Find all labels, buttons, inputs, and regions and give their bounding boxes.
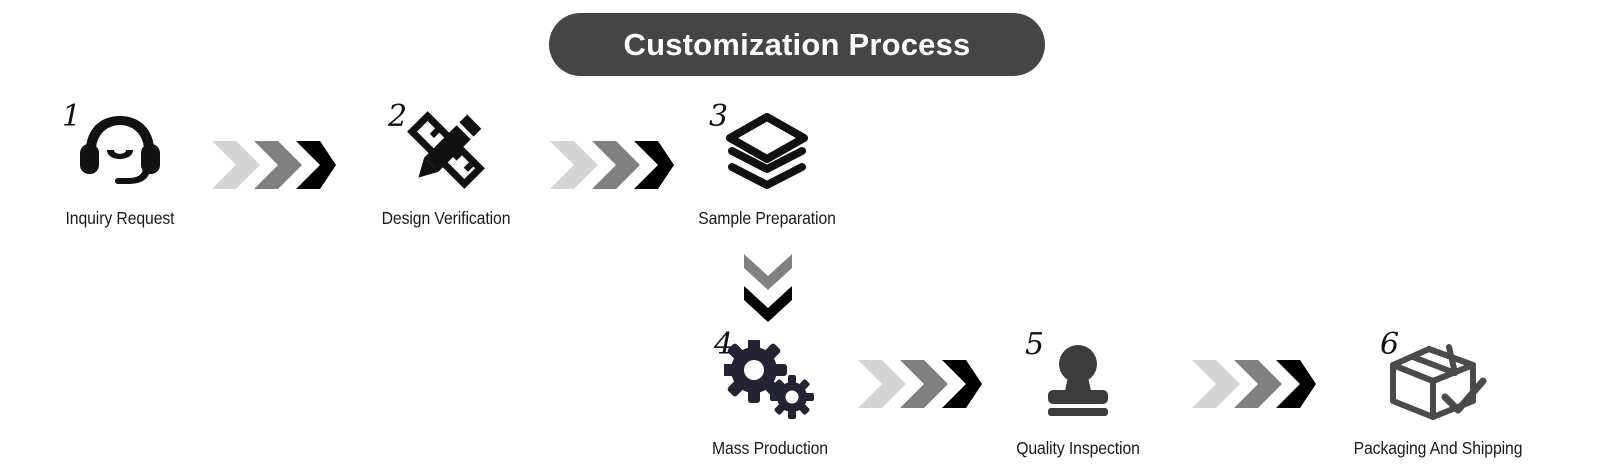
step-1-number: 1: [62, 102, 81, 132]
step-3-label: Sample Preparation: [677, 208, 857, 229]
rubber-stamp-icon: [1036, 341, 1120, 419]
step-6-packaging-and-shipping[interactable]: 6 Packaging And Shipping: [1338, 330, 1538, 459]
page-title-banner: Customization Process: [549, 13, 1045, 76]
step-2-number: 2: [388, 102, 407, 132]
step-6-number: 6: [1380, 330, 1399, 360]
step-6-label: Packaging And Shipping: [1348, 438, 1528, 459]
step-5-number: 5: [1025, 330, 1044, 360]
arrow-step-5-to-6: [1190, 358, 1318, 410]
step-5-quality-inspection[interactable]: 5 Quality Inspection: [978, 330, 1178, 459]
arrow-step-1-to-2: [210, 139, 338, 191]
step-4-label: Mass Production: [680, 438, 860, 459]
process-diagram-canvas: Customization Process 1 Inquiry Request: [0, 0, 1600, 470]
box-check-icon: [1385, 339, 1491, 421]
step-1-inquiry-request[interactable]: 1 Inquiry Request: [20, 100, 220, 229]
page-title: Customization Process: [623, 27, 970, 63]
step-6-icon-wrap: 6: [1338, 330, 1538, 430]
arrow-step-3-to-4: [742, 252, 794, 324]
step-5-icon-wrap: 5: [978, 330, 1178, 430]
step-4-icon-wrap: 4: [670, 330, 870, 430]
ruler-pencil-icon: [403, 109, 489, 191]
layers-stack-icon: [724, 111, 810, 189]
step-3-number: 3: [709, 102, 728, 132]
step-2-design-verification[interactable]: 2: [346, 100, 546, 229]
step-4-mass-production[interactable]: 4: [670, 330, 870, 459]
step-5-label: Quality Inspection: [988, 438, 1168, 459]
step-3-icon-wrap: 3: [667, 100, 867, 200]
step-4-number: 4: [714, 330, 733, 360]
step-1-label: Inquiry Request: [30, 208, 210, 229]
step-3-sample-preparation[interactable]: 3 Sample Preparation: [667, 100, 867, 229]
headset-icon: [74, 110, 166, 190]
step-2-label: Design Verification: [356, 208, 536, 229]
arrow-step-4-to-5: [856, 358, 984, 410]
step-2-icon-wrap: 2: [346, 100, 546, 200]
arrow-step-2-to-3: [548, 139, 676, 191]
step-1-icon-wrap: 1: [20, 100, 220, 200]
gears-icon: [724, 340, 816, 420]
